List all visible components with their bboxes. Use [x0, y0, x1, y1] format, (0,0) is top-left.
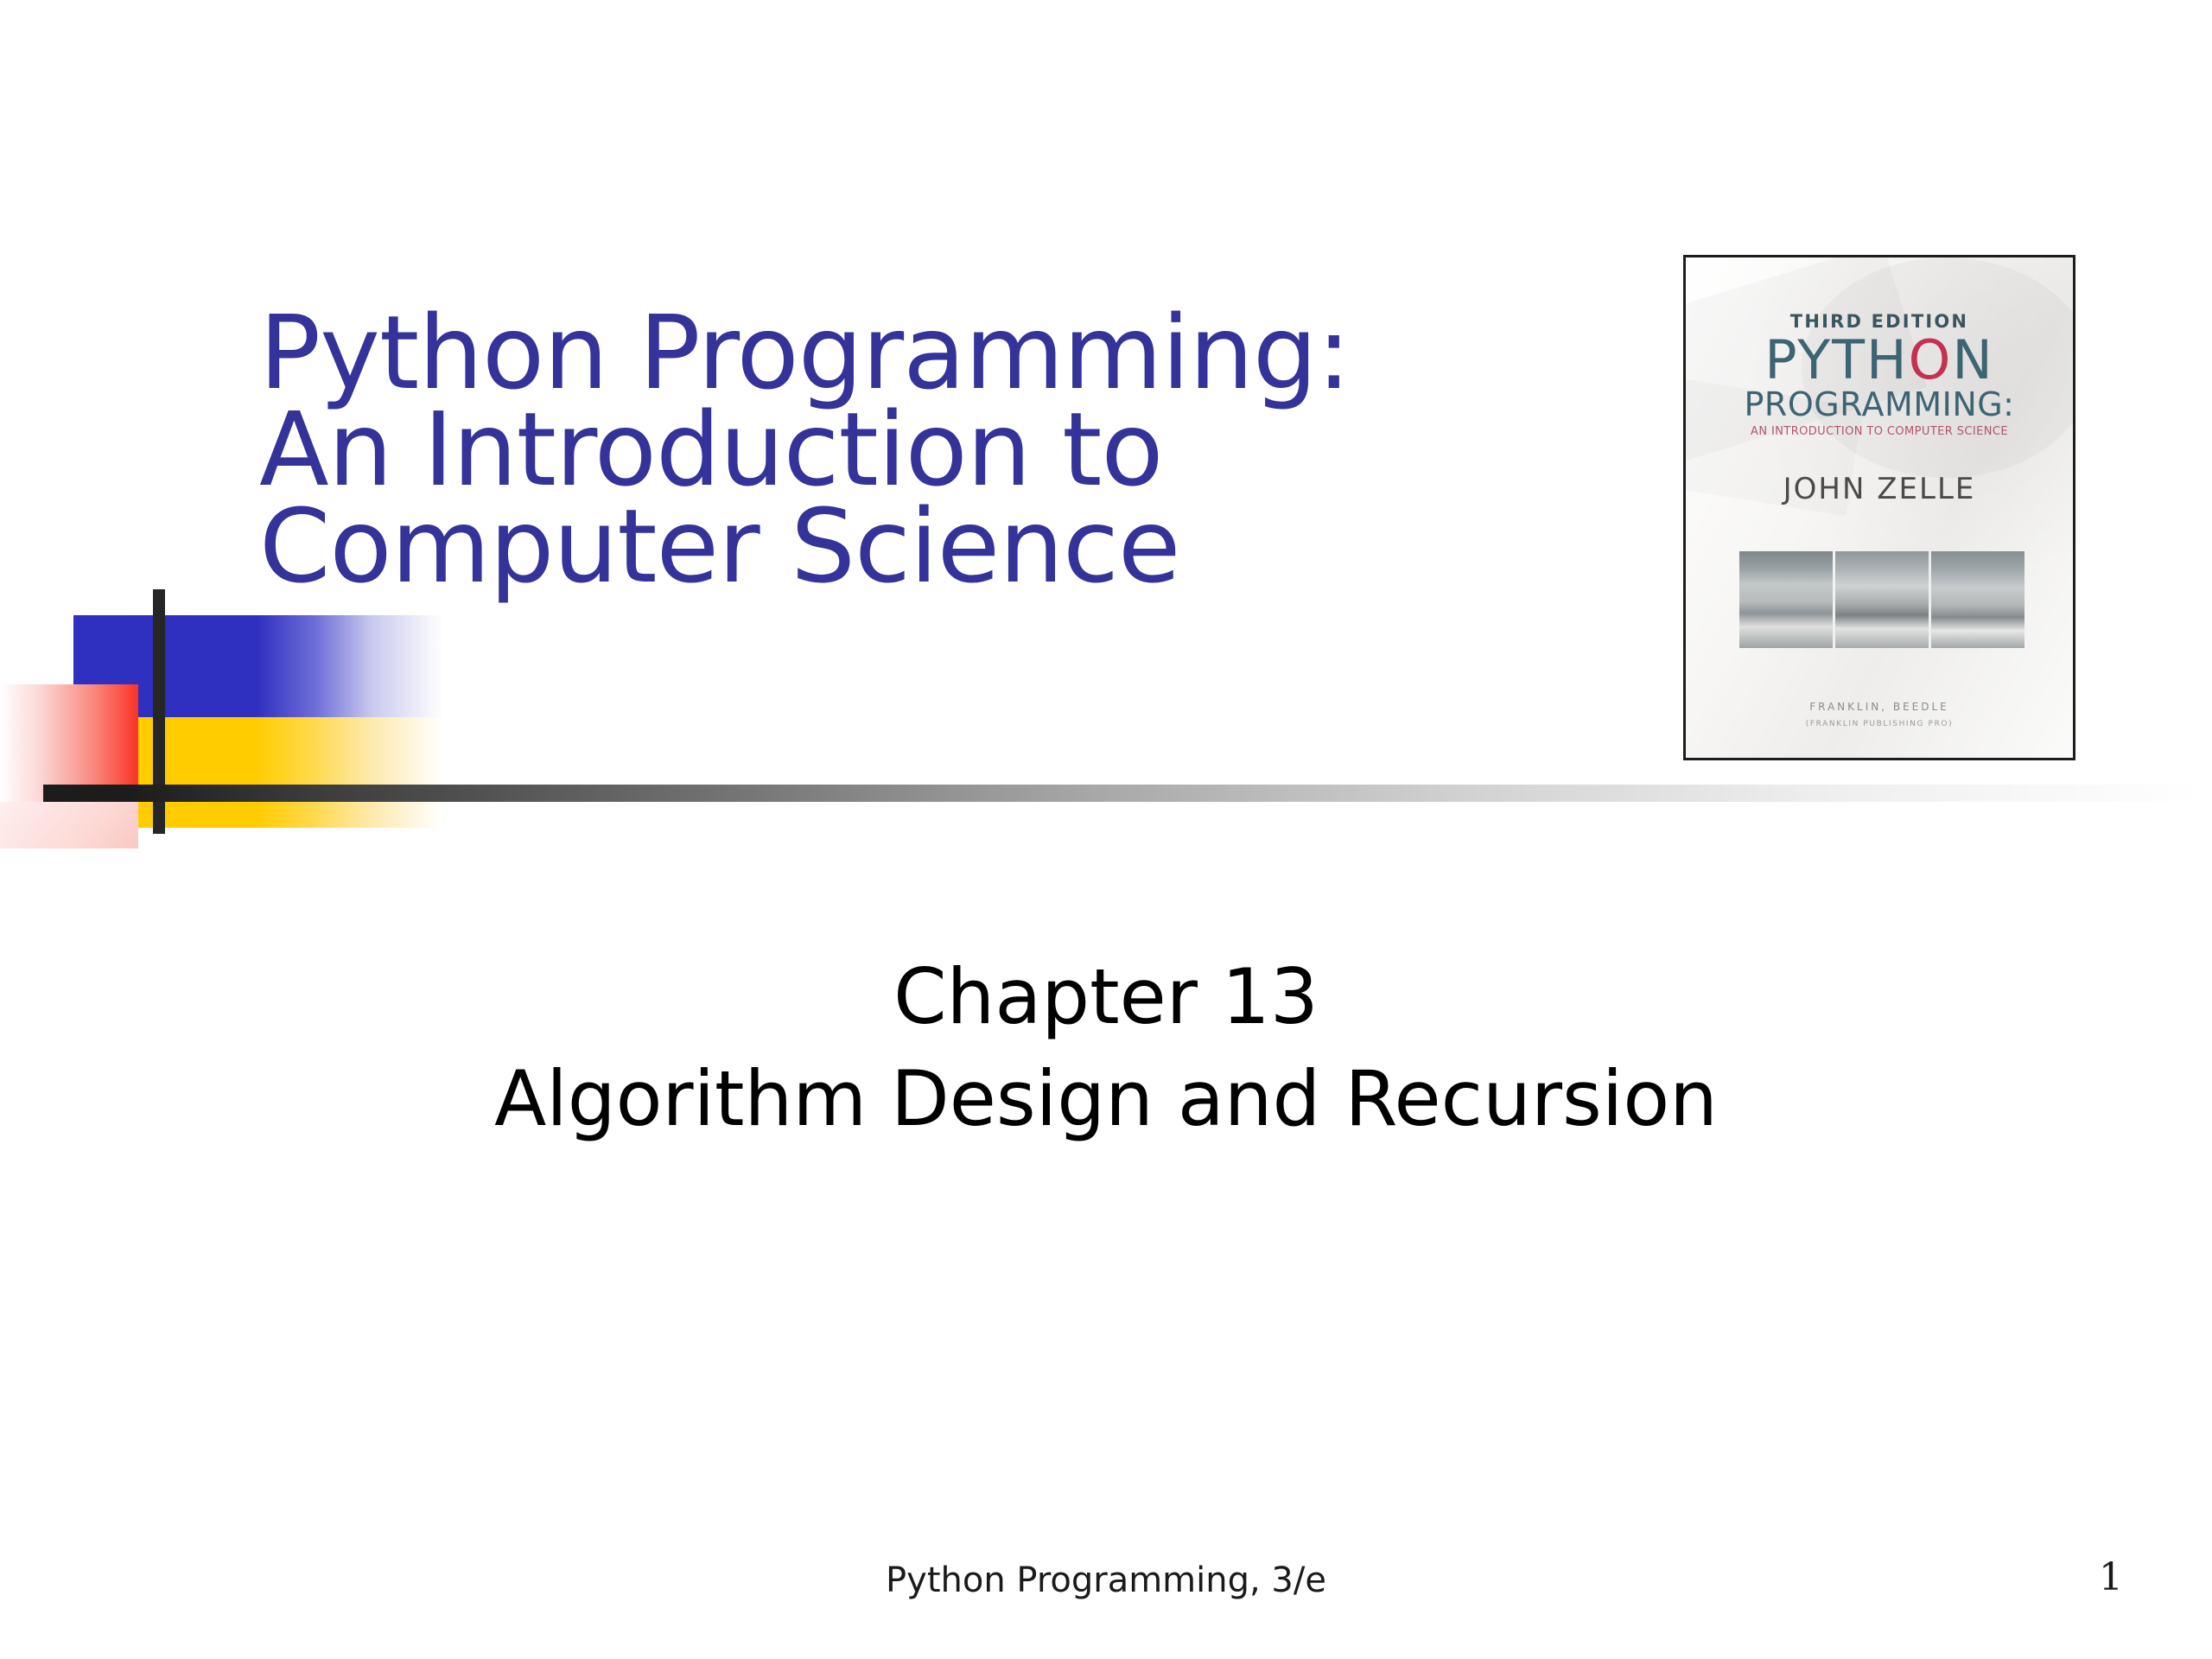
- title-slide: Python Programming: An Introduction to C…: [0, 0, 2212, 1659]
- cover-title-python-part2: N: [1952, 328, 1993, 391]
- blue-gradient-block: [257, 615, 442, 717]
- cover-photo-right: [1931, 551, 2024, 648]
- cover-author: JOHN ZELLE: [1686, 472, 2073, 506]
- cover-publisher: FRANKLIN, BEEDLE: [1686, 701, 2073, 713]
- title-line-1: Python Programming:: [259, 304, 1624, 401]
- cover-photo-center: [1835, 551, 1929, 648]
- book-cover-image: THIRD EDITION PYTHON PROGRAMMING: AN INT…: [1683, 255, 2075, 760]
- cover-tagline: AN INTRODUCTION TO COMPUTER SCIENCE: [1686, 425, 2073, 438]
- cover-title-python-o: O: [1909, 328, 1953, 391]
- footer-label: Python Programming, 3/e: [0, 1560, 2212, 1600]
- horizontal-rule: [43, 785, 2203, 802]
- yellow-gradient-block: [257, 717, 442, 828]
- cover-title-programming: PROGRAMMING:: [1686, 385, 2073, 423]
- cover-photo-left: [1739, 551, 1833, 648]
- cover-publisher-sub: (FRANKLIN PUBLISHING PRO): [1686, 720, 2073, 728]
- title-line-2: An Introduction to: [259, 401, 1624, 498]
- page-number: 1: [2099, 1555, 2123, 1599]
- page-title: Python Programming: An Introduction to C…: [259, 304, 1624, 594]
- chapter-number: Chapter 13: [0, 946, 2212, 1048]
- cover-title-python: PYTHON: [1686, 330, 2073, 391]
- cover-title-python-part1: PYTH: [1764, 328, 1908, 391]
- chapter-title: Algorithm Design and Recursion: [0, 1048, 2212, 1150]
- title-line-3: Computer Science: [259, 498, 1624, 594]
- cover-photo-triptych: [1739, 551, 2024, 648]
- chapter-block: Chapter 13 Algorithm Design and Recursio…: [0, 946, 2212, 1150]
